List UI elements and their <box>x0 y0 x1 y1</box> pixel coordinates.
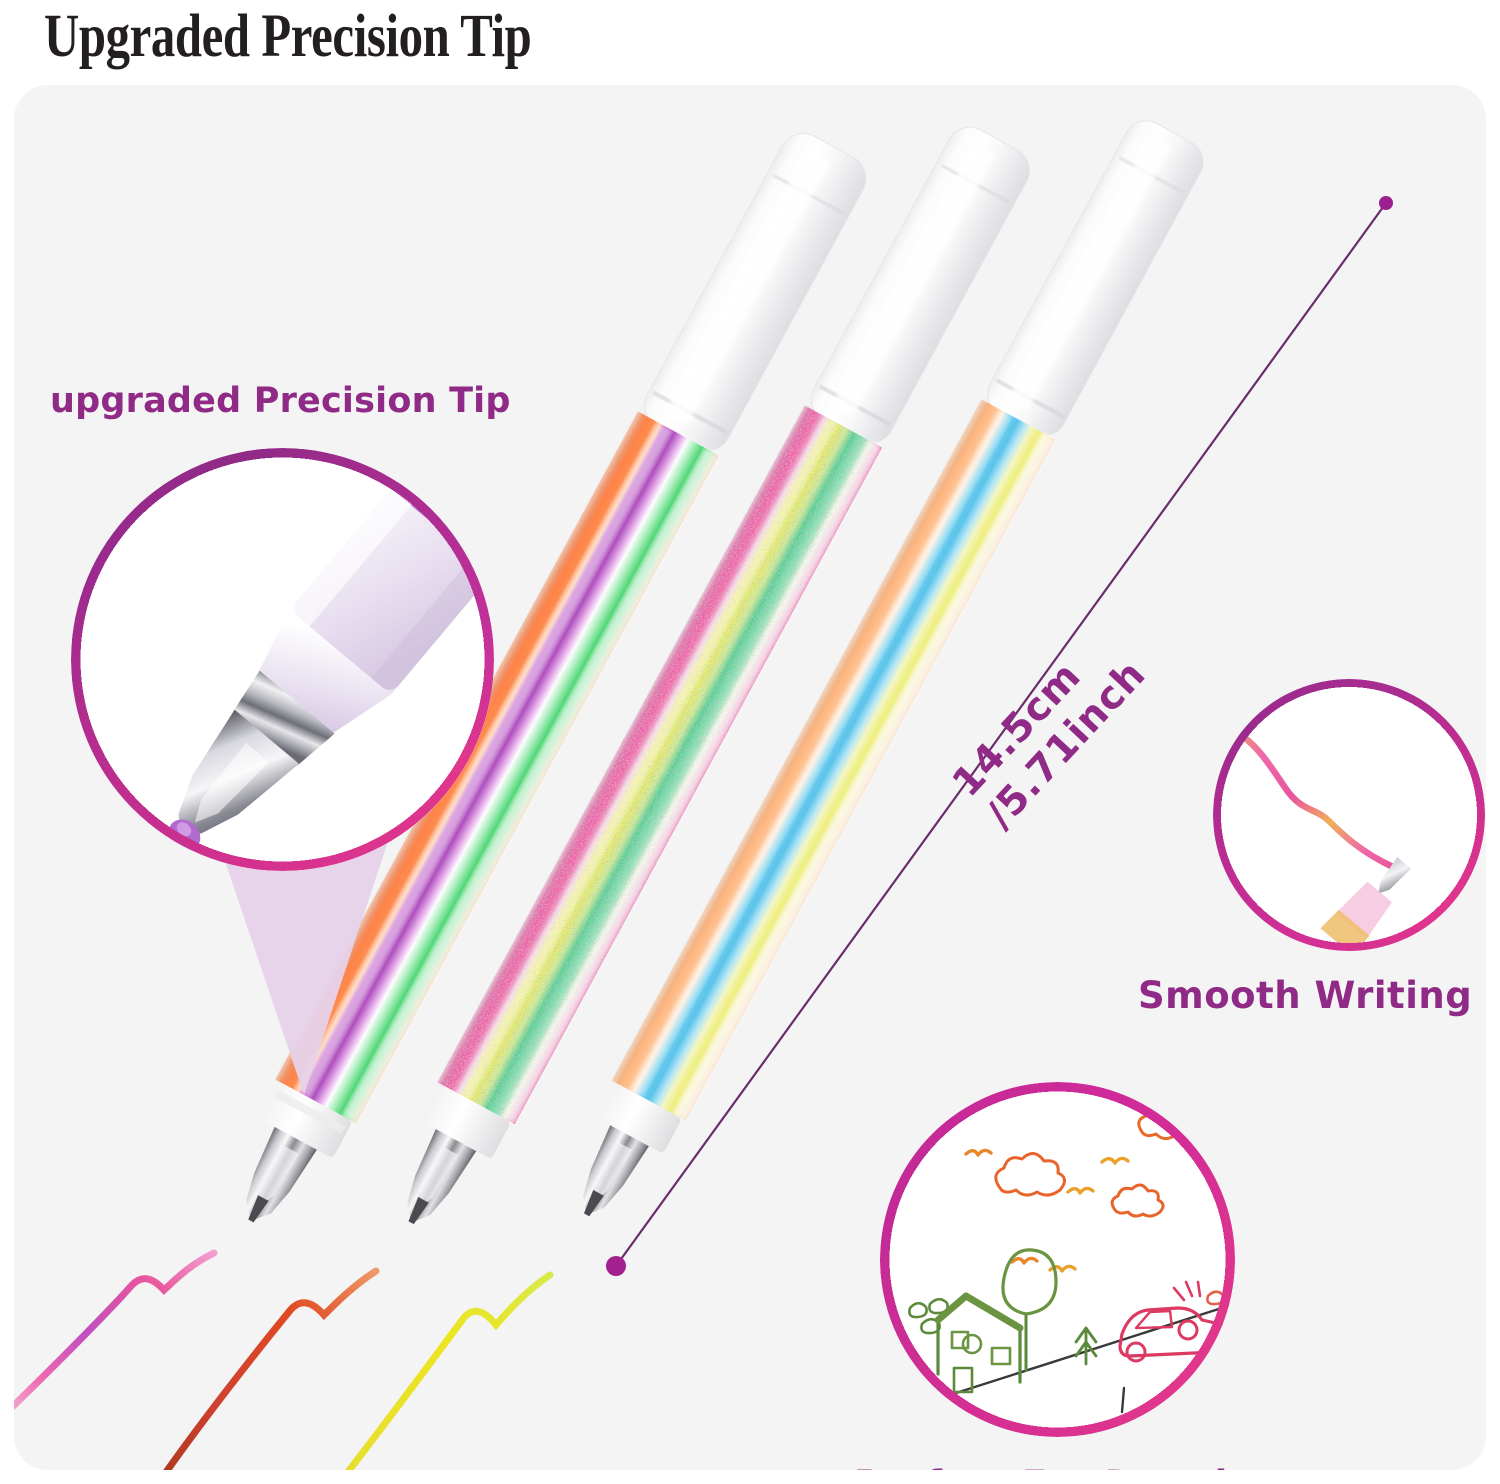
label-precision-tip: upgraded Precision Tip <box>50 381 511 421</box>
label-perfect-for-drawing: Perfect For Drawing <box>854 1463 1282 1470</box>
ink-stroke-red <box>164 1271 376 1470</box>
callout-perfect-for-drawing <box>880 1082 1235 1437</box>
pen-tip-closeup-icon <box>71 448 494 871</box>
product-feature-panel: upgraded Precision Tip Smooth Writing Pe… <box>14 85 1486 1470</box>
callout-precision-tip <box>71 448 494 871</box>
label-smooth-writing: Smooth Writing <box>1138 974 1472 1017</box>
page-title: Upgraded Precision Tip <box>44 2 531 72</box>
ink-stroke-yellow <box>344 1275 550 1470</box>
callout-smooth-writing <box>1213 679 1485 951</box>
child-drawing-icon <box>880 1082 1235 1437</box>
wavy-stroke-icon <box>1213 679 1485 951</box>
ink-stroke-pink <box>14 1253 214 1415</box>
